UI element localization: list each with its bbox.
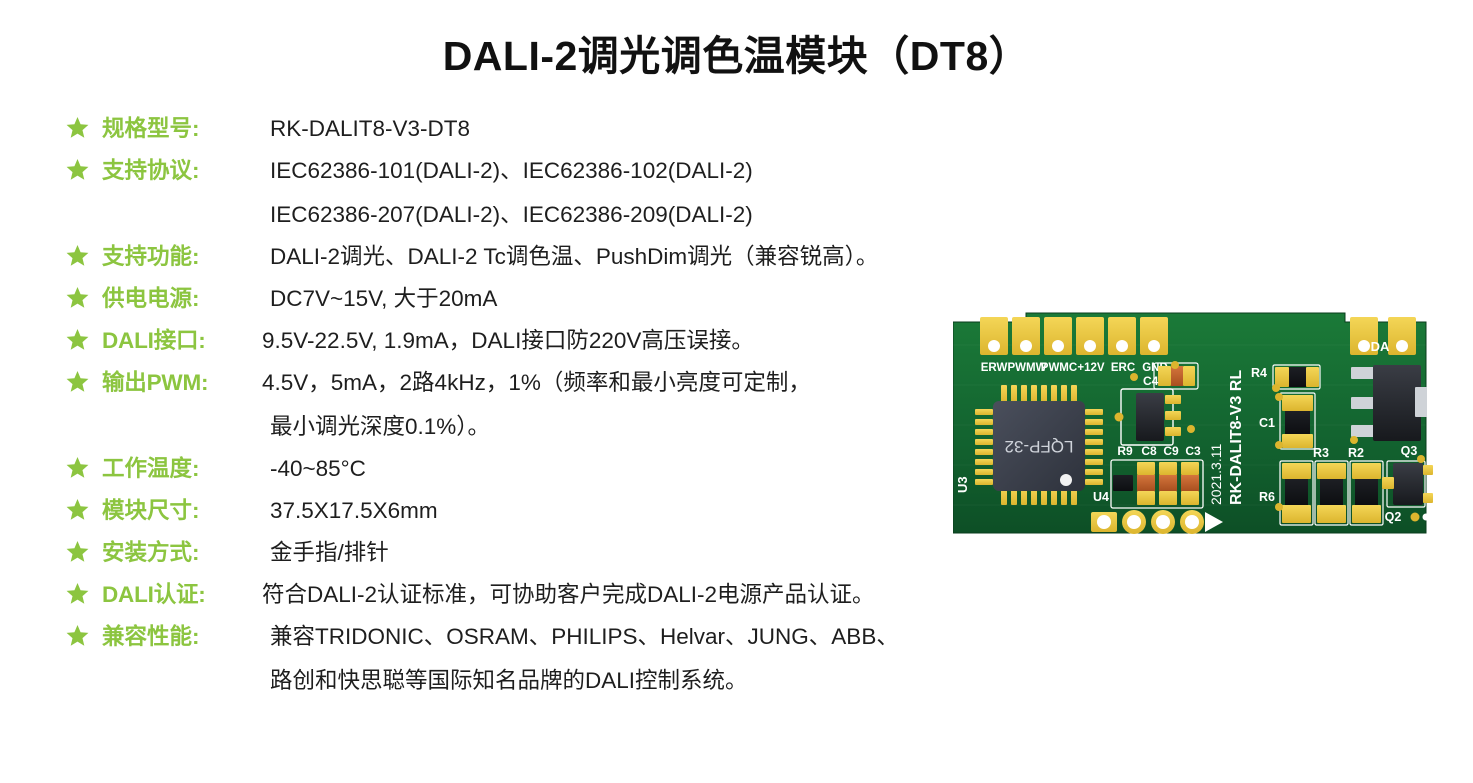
pcb-illustration: DA ERW PWMW PWMC +12V ERC GND [953, 305, 1433, 540]
star-bullet [66, 578, 102, 605]
spec-value-line: 4.5V，5mA，2路4kHz，1%（频率和最小亮度可定制， [262, 366, 996, 400]
specification-list: 规格型号: RK-DALIT8-V3-DT8 支持协议: IEC62386-10… [66, 112, 996, 706]
star-bullet [66, 452, 102, 479]
pcb-mcu-label: LQFP-32 [1005, 437, 1074, 456]
pcb-ref-q3: Q3 [1401, 444, 1418, 458]
spec-row-module-size: 模块尺寸: 37.5X17.5X6mm [66, 494, 996, 528]
gold-finger-pad [1076, 317, 1104, 355]
pcb-ref-u4: U4 [1093, 490, 1109, 504]
pcb-ic-q3 [1350, 365, 1427, 444]
star-bullet [66, 324, 102, 351]
spec-value-model: RK-DALIT8-V3-DT8 [270, 112, 996, 146]
spec-row-dali-interface: DALI接口: 9.5V-22.5V, 1.9mA，DALI接口防220V高压误… [66, 324, 996, 358]
pcb-ref-r3: R3 [1313, 446, 1329, 460]
spec-value-dali-certification: 符合DALI-2认证标准，可协助客户完成DALI-2电源产品认证。 [262, 578, 996, 612]
star-bullet [66, 494, 102, 521]
star-bullet [66, 366, 102, 393]
pcb-pin-label: PWMC [1041, 362, 1077, 374]
spec-row-power-supply: 供电电源: DC7V~15V, 大于20mA [66, 282, 996, 316]
spec-value-mounting: 金手指/排针 [270, 536, 996, 570]
pcb-pin-label: ERC [1111, 362, 1135, 374]
pcb-ref-c9: C9 [1163, 444, 1179, 458]
gold-finger-pad [1044, 317, 1072, 355]
pcb-pin-label: +12V [1077, 362, 1105, 374]
spec-label-dali-certification: DALI认证: [102, 578, 270, 612]
pcb-ref-r6: R6 [1259, 490, 1275, 504]
star-icon [66, 582, 89, 605]
spec-label-pwm-output: 输出PWM: [102, 366, 270, 400]
spec-value-operating-temperature: -40~85°C [270, 452, 996, 486]
gold-finger-pad [1388, 317, 1416, 355]
spec-value-line: DALI-2调光、DALI-2 Tc调色温、PushDim调光（兼容锐高）。 [270, 240, 996, 274]
pcb-ref-q2: Q2 [1385, 510, 1402, 524]
pcb-silk-date: 2021.3.11 [1208, 444, 1224, 505]
spec-value-line: RK-DALIT8-V3-DT8 [270, 112, 996, 146]
spec-row-mounting: 安装方式: 金手指/排针 [66, 536, 996, 570]
spec-value-line: 符合DALI-2认证标准，可协助客户完成DALI-2电源产品认证。 [262, 578, 996, 612]
pcb-ref-c1: C1 [1259, 416, 1275, 430]
spec-row-model: 规格型号: RK-DALIT8-V3-DT8 [66, 112, 996, 146]
star-icon [66, 498, 89, 521]
spec-label-mounting: 安装方式: [102, 536, 270, 570]
gold-finger-pad [1140, 317, 1168, 355]
page-title: DALI-2调光调色温模块（DT8） [0, 22, 1473, 82]
spec-value-line: 金手指/排针 [270, 536, 996, 570]
spec-row-protocols: 支持协议: IEC62386-101(DALI-2)、IEC62386-102(… [66, 154, 996, 232]
spec-row-compatibility: 兼容性能: 兼容TRIDONIC、OSRAM、PHILIPS、Helvar、JU… [66, 620, 996, 698]
gold-finger-pad [980, 317, 1008, 355]
spec-value-line: 9.5V-22.5V, 1.9mA，DALI接口防220V高压误接。 [262, 324, 996, 358]
pcb-ref-r9: R9 [1117, 444, 1133, 458]
spec-value-module-size: 37.5X17.5X6mm [270, 494, 996, 528]
star-icon [66, 370, 89, 393]
star-bullet [66, 154, 102, 181]
spec-value-power-supply: DC7V~15V, 大于20mA [270, 282, 996, 316]
star-icon [66, 624, 89, 647]
spec-label-module-size: 模块尺寸: [102, 494, 270, 528]
pcb-ref-c8: C8 [1141, 444, 1157, 458]
star-icon [66, 456, 89, 479]
spec-row-pwm-output: 输出PWM: 4.5V，5mA，2路4kHz，1%（频率和最小亮度可定制， 最小… [66, 366, 996, 444]
pcb-label-dali-pad: DA [1371, 339, 1390, 354]
star-bullet [66, 240, 102, 267]
spec-value-line: 37.5X17.5X6mm [270, 494, 996, 528]
spec-row-dali-certification: DALI认证: 符合DALI-2认证标准，可协助客户完成DALI-2电源产品认证… [66, 578, 996, 612]
spec-label-dali-interface: DALI接口: [102, 324, 270, 358]
spec-value-compatibility: 兼容TRIDONIC、OSRAM、PHILIPS、Helvar、JUNG、ABB… [270, 620, 996, 698]
spec-value-line: DC7V~15V, 大于20mA [270, 282, 996, 316]
star-icon [66, 286, 89, 309]
star-icon [66, 116, 89, 139]
pcb-ref-u3: U3 [955, 476, 970, 493]
star-icon [66, 540, 89, 563]
star-bullet [66, 112, 102, 139]
star-icon [66, 158, 89, 181]
pcb-pin-label: ERW [981, 362, 1008, 374]
gold-finger-pad [1012, 317, 1040, 355]
pcb-ref-c3: C3 [1185, 444, 1201, 458]
star-bullet [66, 620, 102, 647]
pcb-ref-r2: R2 [1348, 446, 1364, 460]
spec-label-compatibility: 兼容性能: [102, 620, 270, 654]
spec-value-line: 最小调光深度0.1%）。 [270, 410, 996, 444]
spec-value-protocols: IEC62386-101(DALI-2)、IEC62386-102(DALI-2… [270, 154, 996, 232]
pcb-ref-c4: C4 [1143, 374, 1159, 388]
pcb-module-image: DA ERW PWMW PWMC +12V ERC GND [953, 305, 1433, 540]
spec-label-model: 规格型号: [102, 112, 270, 146]
spec-label-protocols: 支持协议: [102, 154, 270, 188]
spec-value-line: IEC62386-207(DALI-2)、IEC62386-209(DALI-2… [270, 198, 996, 232]
spec-row-operating-temperature: 工作温度: -40~85°C [66, 452, 996, 486]
spec-row-functions: 支持功能: DALI-2调光、DALI-2 Tc调色温、PushDim调光（兼容… [66, 240, 996, 274]
star-bullet [66, 536, 102, 563]
spec-value-dali-interface: 9.5V-22.5V, 1.9mA，DALI接口防220V高压误接。 [262, 324, 996, 358]
spec-value-functions: DALI-2调光、DALI-2 Tc调色温、PushDim调光（兼容锐高）。 [270, 240, 996, 274]
spec-value-line: IEC62386-101(DALI-2)、IEC62386-102(DALI-2… [270, 154, 996, 188]
spec-label-functions: 支持功能: [102, 240, 270, 274]
spec-label-power-supply: 供电电源: [102, 282, 270, 316]
pcb-ref-r4: R4 [1251, 366, 1267, 380]
spec-label-operating-temperature: 工作温度: [102, 452, 270, 486]
spec-value-line: 兼容TRIDONIC、OSRAM、PHILIPS、Helvar、JUNG、ABB… [270, 620, 996, 654]
pcb-silk-part-number: RK-DALIT8-V3 RL [1228, 370, 1245, 505]
star-icon [66, 244, 89, 267]
spec-value-pwm-output: 4.5V，5mA，2路4kHz，1%（频率和最小亮度可定制， 最小调光深度0.1… [262, 366, 996, 444]
spec-value-line: 路创和快思聪等国际知名品牌的DALI控制系统。 [270, 664, 996, 698]
spec-value-line: -40~85°C [270, 452, 996, 486]
star-icon [66, 328, 89, 351]
gold-finger-pad [1108, 317, 1136, 355]
star-bullet [66, 282, 102, 309]
